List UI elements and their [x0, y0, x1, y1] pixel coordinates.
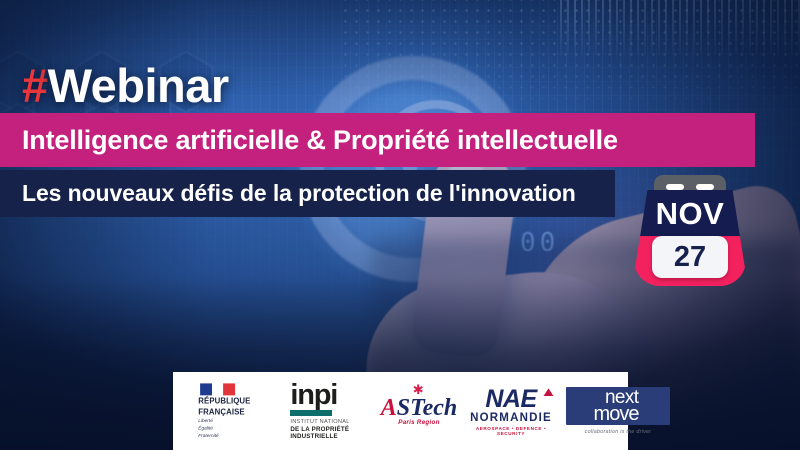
inpi-wordmark: inpi: [290, 382, 349, 408]
nae-region: NORMANDIE: [463, 412, 559, 425]
nextmove-box: next move: [566, 387, 670, 425]
logo-inpi: inpi INSTITUT NATIONAL DE LA PROPRIÉTÉ I…: [265, 372, 375, 450]
calendar-ring-hole-left: [666, 184, 684, 190]
inpi-sub-line3: INDUSTRIELLE: [290, 433, 349, 440]
nextmove-tagline: collaboration is the driver: [566, 429, 670, 435]
calendar-day: 27: [652, 236, 728, 278]
webinar-banner: © 10110100101101 00 #Webinar Intelligenc…: [0, 0, 800, 450]
calendar-ring-hole-right: [696, 184, 714, 190]
partner-logo-strip: RÉPUBLIQUE FRANÇAISE Liberté Égalité Fra…: [173, 372, 628, 450]
nae-subtitle: AEROSPACE • DEFENCE • SECURITY: [463, 426, 559, 436]
astech-star-icon: ✱: [413, 383, 424, 396]
astech-mark-a: A: [381, 395, 397, 421]
hash-symbol: #: [22, 59, 48, 112]
rf-title-line1: RÉPUBLIQUE: [198, 397, 250, 406]
french-flag-icon: [200, 383, 235, 395]
inpi-sub-line2: DE LA PROPRIÉTÉ: [290, 426, 349, 433]
rf-motto-1: Liberté: [198, 418, 250, 424]
rf-title-line2: FRANÇAISE: [198, 408, 250, 417]
rf-motto-3: Fraternité: [198, 433, 250, 439]
logo-astech: ✱ ASTech Paris Region: [375, 372, 463, 450]
kicker-word: Webinar: [48, 59, 229, 112]
logo-nae-normandie: ▲ NAE NORMANDIE AEROSPACE • DEFENCE • SE…: [463, 372, 559, 450]
inpi-sub-line1: INSTITUT NATIONAL: [290, 419, 349, 425]
title-bar: Intelligence artificielle & Propriété in…: [0, 113, 755, 167]
nextmove-line2: move: [594, 406, 639, 422]
rf-motto-2: Égalité: [198, 426, 250, 432]
nae-bird-icon: ▲: [540, 385, 557, 398]
calendar-body: NOV 27: [634, 190, 746, 286]
page-title: Intelligence artificielle & Propriété in…: [0, 125, 618, 156]
hashtag-kicker: #Webinar: [22, 62, 229, 109]
logo-republique-francaise: RÉPUBLIQUE FRANÇAISE Liberté Égalité Fra…: [173, 372, 265, 450]
subtitle-bar: Les nouveaux défis de la protection de l…: [0, 170, 615, 217]
page-subtitle: Les nouveaux défis de la protection de l…: [0, 180, 576, 207]
logo-nextmove: next move collaboration is the driver: [559, 372, 677, 450]
calendar-month: NOV: [634, 196, 746, 232]
calendar-date-badge: NOV 27: [628, 175, 752, 287]
astech-mark-rest: STech: [397, 395, 457, 421]
